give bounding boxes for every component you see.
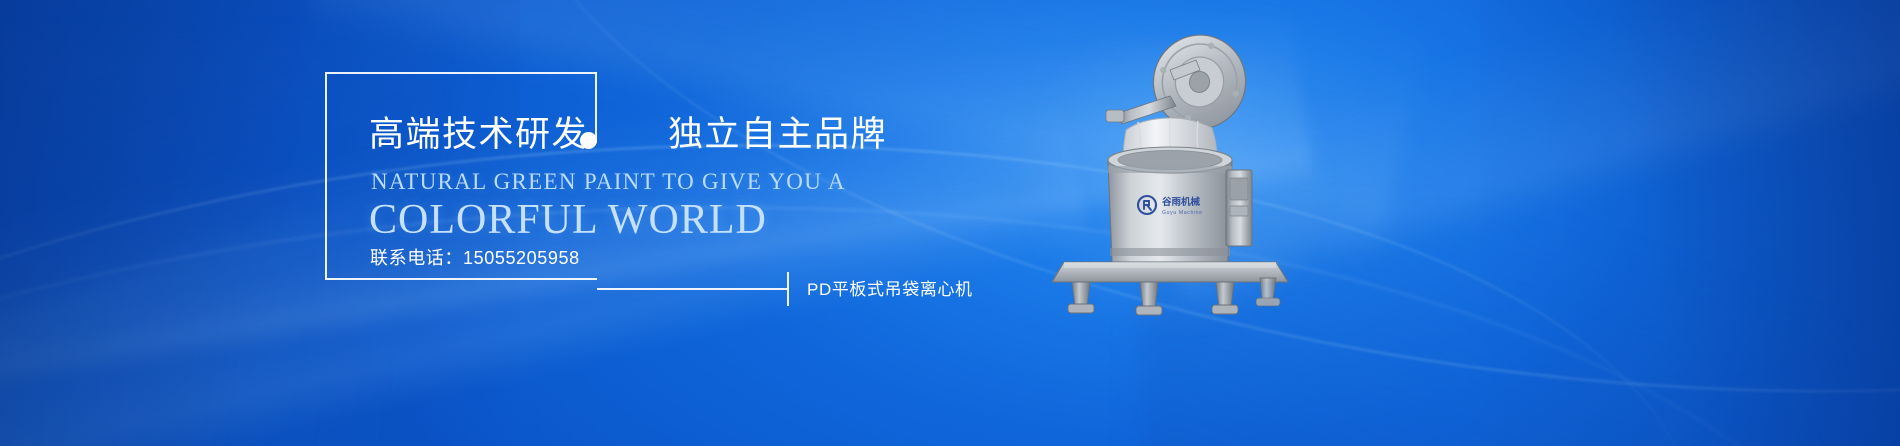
hero-banner: 谷雨机械 Guyu Machine [0,0,1900,446]
headline: 高端技术研发 独立自主品牌 [369,117,887,152]
leader-tick-icon [787,272,789,306]
product-caption-group: PD平板式吊袋离心机 [597,272,973,306]
contact-phone: 联系电话：15055205958 [370,249,580,267]
banner-content: 高端技术研发 独立自主品牌 NATURAL GREEN PAINT TO GIV… [0,0,1900,446]
headline-segment-left: 高端技术研发 [369,117,588,152]
tagline-english: COLORFUL WORLD [369,199,767,241]
leader-line-icon [597,288,787,290]
headline-segment-right: 独立自主品牌 [668,117,887,152]
subtitle-english: NATURAL GREEN PAINT TO GIVE YOU A [371,170,846,193]
product-caption: PD平板式吊袋离心机 [807,281,973,298]
